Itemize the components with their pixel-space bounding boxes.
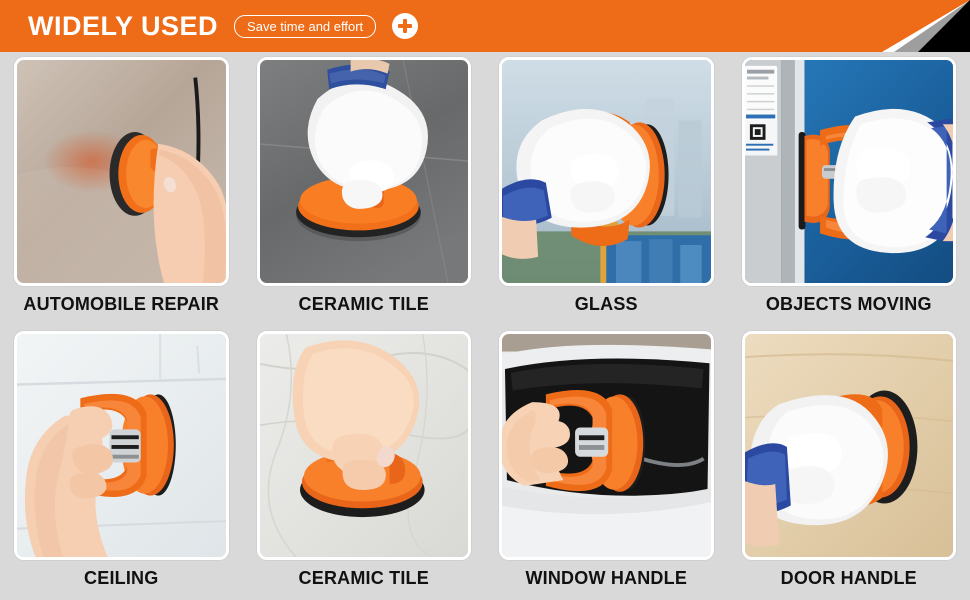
tagline-badge: Save time and effort bbox=[234, 15, 376, 38]
diagonal-stripes-decoration bbox=[770, 0, 970, 52]
tile-caption: CERAMIC TILE bbox=[299, 569, 429, 589]
suction-cup-moving-blue-panel-photo bbox=[742, 57, 957, 286]
tile-caption: WINDOW HANDLE bbox=[525, 569, 687, 589]
header-banner: WIDELY USED Save time and effort bbox=[0, 0, 970, 52]
suction-cup-on-car-body-photo bbox=[14, 57, 229, 286]
suction-cup-on-marble-tile-photo bbox=[257, 331, 472, 560]
tile-caption: GLASS bbox=[575, 295, 638, 315]
use-case-cell-door-handle: DOOR HANDLE bbox=[728, 326, 970, 600]
product-feature-infographic: WIDELY USED Save time and effort bbox=[0, 0, 970, 600]
suction-cup-on-wood-door-photo bbox=[742, 331, 957, 560]
use-case-cell-ceiling: CEILING bbox=[0, 326, 243, 600]
tile-caption: CEILING bbox=[84, 569, 158, 589]
tile-caption: AUTOMOBILE REPAIR bbox=[23, 295, 219, 315]
header-content: WIDELY USED Save time and effort bbox=[28, 0, 418, 52]
use-case-cell-ceramic-tile-gray: CERAMIC TILE bbox=[243, 52, 486, 326]
use-case-cell-glass: GLASS bbox=[485, 52, 728, 326]
tile-caption: DOOR HANDLE bbox=[781, 569, 917, 589]
page-title: WIDELY USED bbox=[28, 13, 218, 40]
suction-cup-on-window-glass-photo bbox=[499, 57, 714, 286]
use-case-cell-ceramic-tile-marble: CERAMIC TILE bbox=[243, 326, 486, 600]
plus-circle-icon bbox=[392, 13, 418, 39]
use-case-grid: AUTOMOBILE REPAIR bbox=[0, 52, 970, 600]
suction-cup-on-white-ceiling-photo bbox=[14, 331, 229, 560]
suction-cup-on-car-window-photo bbox=[499, 331, 714, 560]
tile-caption: CERAMIC TILE bbox=[299, 295, 429, 315]
suction-cup-on-gray-tile-floor-photo bbox=[257, 57, 472, 286]
use-case-cell-window-handle: WINDOW HANDLE bbox=[485, 326, 728, 600]
use-case-cell-automobile-repair: AUTOMOBILE REPAIR bbox=[0, 52, 243, 326]
use-case-cell-objects-moving: OBJECTS MOVING bbox=[728, 52, 970, 326]
tile-caption: OBJECTS MOVING bbox=[766, 295, 932, 315]
